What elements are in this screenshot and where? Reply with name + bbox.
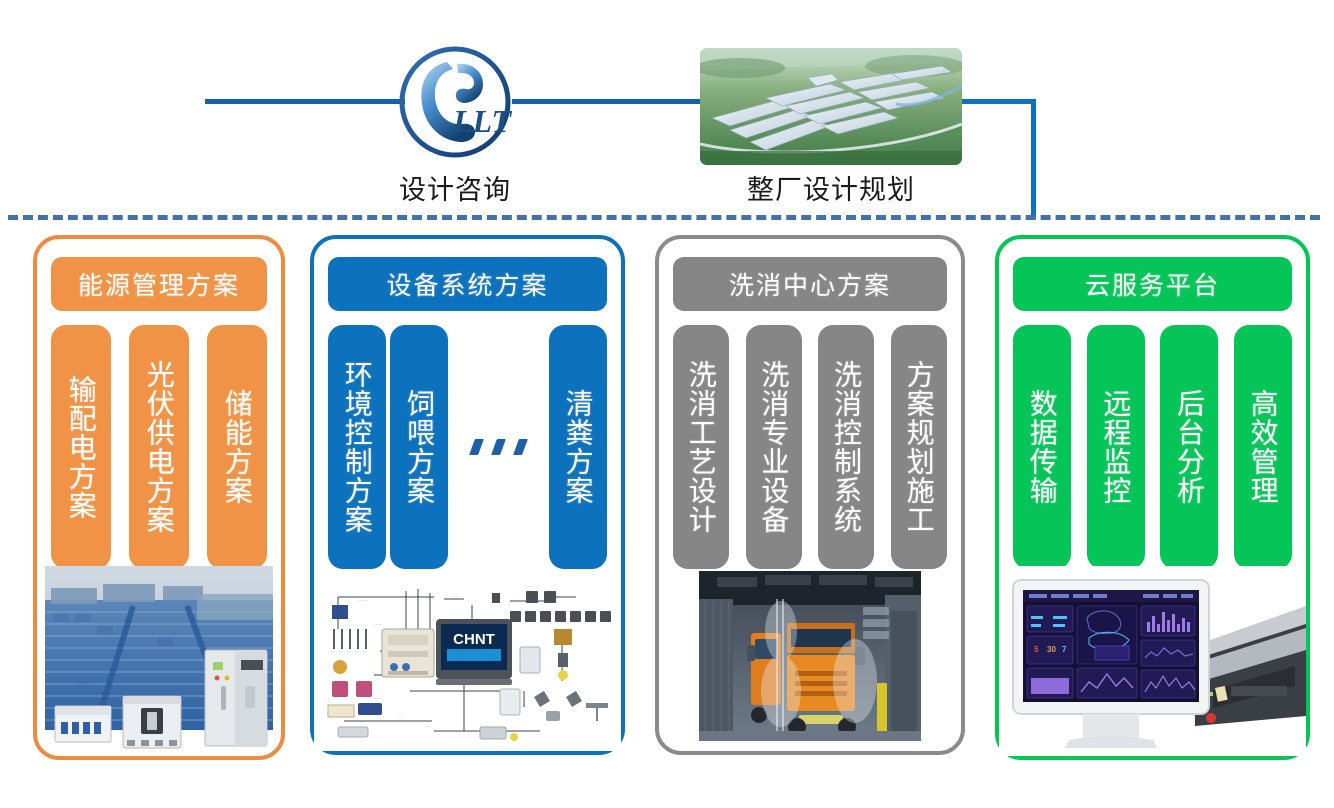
truck-wash-photo (659, 565, 961, 751)
panel-wash-title: 洗消中心方案 (673, 257, 947, 311)
item-efficient-management[interactable]: 高效管理 (1234, 325, 1292, 569)
logo-brand-text: LLT (452, 103, 513, 139)
chnt-brand-text: CHNT (453, 631, 495, 648)
svg-text:-------: ------- (358, 597, 368, 602)
panel-energy-management[interactable]: 能源管理方案 输配电方案 光伏供电方案 储能方案 (33, 235, 285, 760)
panel-cloud-items: 数据传输 远程监控 后台分析 高效管理 (1013, 325, 1292, 569)
chnt-control-diagram: CHNT (314, 571, 621, 751)
item-wash-process-design[interactable]: 洗消工艺设计 (673, 325, 729, 569)
item-plan-and-construction[interactable]: 方案规划施工 (891, 325, 947, 569)
panel-equipment-items: 环境控制方案 饲喂方案 清粪方案 (328, 325, 607, 569)
item-wash-control-system[interactable]: 洗消控制系统 (818, 325, 874, 569)
ellipsis-indicator (453, 325, 545, 569)
svg-text:------: ------ (374, 695, 383, 700)
item-energy-storage[interactable]: 储能方案 (207, 325, 267, 569)
panel-wash-items: 洗消工艺设计 洗消专业设备 洗消控制系统 方案规划施工 (673, 325, 947, 569)
item-manure-cleaning[interactable]: 清粪方案 (549, 325, 607, 569)
item-wash-equipment[interactable]: 洗消专业设备 (746, 325, 802, 569)
svg-text:30: 30 (1047, 645, 1056, 654)
panel-energy-items: 输配电方案 光伏供电方案 储能方案 (51, 325, 267, 569)
section-divider (8, 215, 1320, 220)
connector-line-right-vertical (1031, 99, 1036, 219)
diagram-canvas: LLT 设计咨询 (0, 0, 1334, 808)
item-remote-monitoring[interactable]: 远程监控 (1087, 325, 1145, 569)
solar-farm-photo (37, 566, 281, 756)
svg-text:5: 5 (1034, 645, 1039, 654)
llt-logo-icon: LLT (395, 42, 515, 162)
whole-plant-aerial-photo (700, 48, 962, 165)
design-consulting-label: 设计咨询 (355, 168, 555, 207)
item-pv-power-supply[interactable]: 光伏供电方案 (129, 325, 189, 569)
connector-line-middle (512, 99, 707, 104)
item-feeding-plan[interactable]: 饲喂方案 (390, 325, 448, 569)
panel-wash-disinfection-center[interactable]: 洗消中心方案 洗消工艺设计 洗消专业设备 洗消控制系统 方案规划施工 (655, 235, 965, 755)
panel-cloud-title: 云服务平台 (1013, 257, 1292, 311)
item-environment-control[interactable]: 环境控制方案 (328, 325, 386, 569)
panel-equipment-title: 设备系统方案 (328, 257, 607, 311)
svg-text:---: --- (454, 593, 459, 598)
svg-text:---: --- (398, 713, 403, 718)
panel-equipment-system[interactable]: 设备系统方案 环境控制方案 饲喂方案 清粪方案 (310, 235, 625, 755)
plant-planning-label: 整厂设计规划 (700, 168, 962, 207)
svg-text:------: ------ (374, 621, 383, 626)
panel-energy-title: 能源管理方案 (51, 257, 267, 311)
cloud-dashboard-photo: 530 7 (999, 566, 1306, 756)
svg-text:---: --- (528, 583, 533, 588)
svg-text:7: 7 (1062, 645, 1067, 654)
item-data-transmission[interactable]: 数据传输 (1013, 325, 1071, 569)
item-power-distribution[interactable]: 输配电方案 (51, 325, 111, 569)
panel-cloud-service-platform[interactable]: 云服务平台 数据传输 远程监控 后台分析 高效管理 (995, 235, 1310, 760)
connector-line-right-horizontal (958, 99, 1036, 104)
connector-line-left (205, 99, 405, 104)
svg-text:---: --- (426, 723, 431, 728)
item-backend-analysis[interactable]: 后台分析 (1160, 325, 1218, 569)
